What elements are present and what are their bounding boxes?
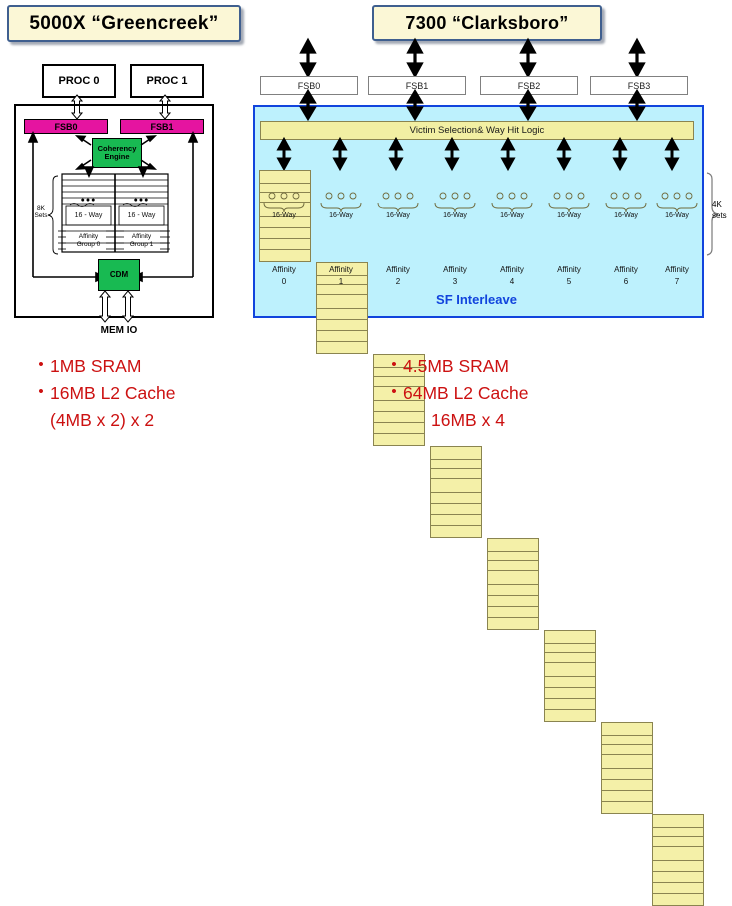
column-way-label: 16-Way: [487, 212, 537, 219]
right-panel-title: 7300 “Clarksboro”: [372, 5, 602, 41]
column-way-label: 16-Way: [259, 212, 309, 219]
list-item: • 16MB L2 Cache: [32, 383, 332, 405]
affinity-label: Affinity: [316, 265, 366, 274]
affinity-index: 2: [373, 277, 423, 286]
fsb0-box: FSB0: [260, 76, 358, 95]
left-bullet-list: • 1MB SRAM • 16MB L2 Cache (4MB x 2) x 2: [32, 356, 332, 432]
affinity-label: Affinity: [544, 265, 594, 274]
coherency-engine-box: Coherency Engine: [92, 138, 142, 168]
cache-column: [316, 262, 368, 354]
list-item: • 1MB SRAM: [32, 356, 332, 378]
cdm-box: CDM: [98, 259, 140, 291]
list-item: • 64MB L2 Cache: [385, 383, 685, 405]
bullet-marker: •: [385, 383, 403, 402]
affinity-index: 7: [652, 277, 702, 286]
list-item: • 4.5MB SRAM: [385, 356, 685, 378]
affinity-label: Affinity: [430, 265, 480, 274]
proc-1-box: PROC 1: [130, 64, 204, 98]
greencreek-dots-1: ●●●: [119, 197, 164, 204]
clarksboro-sets-label-line1: 4K: [712, 200, 732, 209]
affinity-index: 5: [544, 277, 594, 286]
bullet-text: 64MB L2 Cache: [403, 383, 529, 405]
column-way-label: 16-Way: [652, 212, 702, 219]
affinity-label: Affinity: [652, 265, 702, 274]
cache-column: [601, 722, 653, 814]
fsb0-bar: FSB0: [24, 119, 108, 134]
column-way-label: 16-Way: [316, 212, 366, 219]
greencreek-way-label-1: 16 - Way: [119, 212, 164, 219]
affinity-index: 4: [487, 277, 537, 286]
proc-0-box: PROC 0: [42, 64, 116, 98]
sf-interleave-label: SF Interleave: [253, 292, 700, 307]
right-bullet-list: • 4.5MB SRAM • 64MB L2 Cache 16MB x 4: [385, 356, 685, 432]
affinity-label: Affinity: [601, 265, 651, 274]
bullet-marker: •: [385, 356, 403, 375]
affinity-label: Affinity: [259, 265, 309, 274]
greencreek-affinity-group-1-line1: Affinity: [119, 233, 164, 240]
fsb2-box: FSB2: [480, 76, 578, 95]
bullet-text: 4.5MB SRAM: [403, 356, 509, 378]
cache-column: [544, 630, 596, 722]
column-way-label: 16-Way: [601, 212, 651, 219]
bullet-subtext: (4MB x 2) x 2: [32, 410, 332, 432]
greencreek-affinity-group-0-line2: Group 0: [66, 241, 111, 248]
victim-selection-logic-bar: Victim Selection& Way Hit Logic: [260, 121, 694, 140]
bullet-text: 16MB L2 Cache: [50, 383, 176, 405]
affinity-label: Affinity: [373, 265, 423, 274]
fsb1-bar: FSB1: [120, 119, 204, 134]
greencreek-dots-0: ●●●: [66, 197, 111, 204]
greencreek-affinity-group-1-line2: Group 1: [119, 241, 164, 248]
affinity-label: Affinity: [487, 265, 537, 274]
fsb1-box: FSB1: [368, 76, 466, 95]
bullet-text: 1MB SRAM: [50, 356, 141, 378]
column-way-label: 16-Way: [430, 212, 480, 219]
bullet-marker: •: [32, 356, 50, 375]
mem-io-label: MEM IO: [79, 325, 159, 336]
greencreek-way-label-0: 16 - Way: [66, 212, 111, 219]
column-way-label: 16-Way: [544, 212, 594, 219]
greencreek-sets-label-line2: Sets: [30, 212, 52, 219]
left-panel-title: 5000X “Greencreek”: [7, 5, 241, 42]
bullet-subtext: 16MB x 4: [385, 410, 685, 432]
fsb3-box: FSB3: [590, 76, 688, 95]
affinity-index: 6: [601, 277, 651, 286]
clarksboro-sets-label-line2: sets: [712, 211, 732, 220]
affinity-index: 3: [430, 277, 480, 286]
affinity-index: 0: [259, 277, 309, 286]
cache-column: [430, 446, 482, 538]
greencreek-affinity-group-0-line1: Affinity: [66, 233, 111, 240]
cache-column: [487, 538, 539, 630]
cache-column: [652, 814, 704, 906]
bullet-marker: •: [32, 383, 50, 402]
column-way-label: 16-Way: [373, 212, 423, 219]
affinity-index: 1: [316, 277, 366, 286]
